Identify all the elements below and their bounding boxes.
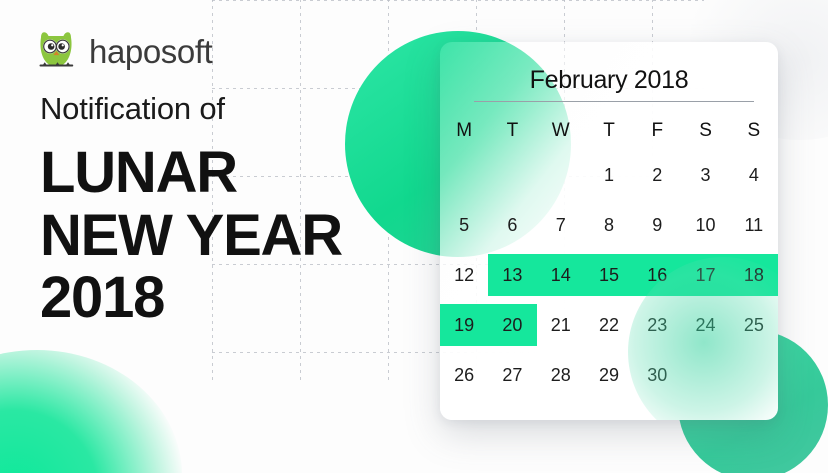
calendar-divider: [474, 101, 754, 102]
headline-kicker: Notification of: [40, 92, 342, 126]
calendar-day-cell[interactable]: 7: [537, 216, 585, 234]
calendar-day-cell[interactable]: 8: [585, 216, 633, 234]
calendar-day-cell[interactable]: 21: [537, 316, 585, 334]
calendar-day-cell-highlighted[interactable]: 20: [488, 316, 536, 334]
decorative-green-glow-bottom-left: [0, 350, 182, 473]
calendar-day-cell[interactable]: 28: [537, 366, 585, 384]
weekday-label: T: [488, 121, 536, 140]
headline-line-3: 2018: [40, 267, 342, 330]
calendar-day-cell[interactable]: 29: [585, 366, 633, 384]
calendar-day-cell[interactable]: 23: [633, 316, 681, 334]
weekday-label: M: [440, 121, 488, 140]
calendar-day-cell-highlighted[interactable]: 15: [585, 266, 633, 284]
calendar-day-cell[interactable]: 11: [730, 216, 778, 234]
calendar-card: February 2018 M T W T F S S 1 2: [440, 42, 778, 420]
calendar-weekday-row: M T W T F S S: [440, 110, 778, 150]
calendar-day-cell[interactable]: 6: [488, 216, 536, 234]
calendar-week-row: 1 2 3 4: [440, 150, 778, 200]
poster-canvas: haposoft Notification of LUNAR NEW YEAR …: [0, 0, 828, 473]
calendar-day-cell[interactable]: 24: [681, 316, 729, 334]
calendar-week-row: 5 6 7 8 9 10 11: [440, 200, 778, 250]
calendar-day-cell-highlighted[interactable]: 18: [730, 266, 778, 284]
calendar-title: February 2018: [440, 66, 778, 95]
calendar-day-cell[interactable]: 2: [633, 166, 681, 184]
brand-logo: haposoft: [32, 27, 212, 75]
brand-name: haposoft: [89, 35, 212, 68]
calendar-day-cell[interactable]: 5: [440, 216, 488, 234]
calendar-day-cell[interactable]: 26: [440, 366, 488, 384]
calendar-day-cell[interactable]: 1: [585, 166, 633, 184]
weekday-label: F: [633, 121, 681, 140]
calendar-grid: M T W T F S S 1 2 3 4: [440, 110, 778, 400]
calendar-week-row: 26 27 28 29 30: [440, 350, 778, 400]
headline-block: Notification of LUNAR NEW YEAR 2018: [40, 92, 342, 330]
calendar-day-cell[interactable]: 22: [585, 316, 633, 334]
headline-line-1: LUNAR: [40, 142, 342, 205]
calendar-day-cell-highlighted[interactable]: 17: [681, 266, 729, 284]
owl-logo-icon: [32, 27, 80, 75]
headline-line-2: NEW YEAR: [40, 205, 342, 268]
calendar-day-cell-highlighted[interactable]: 13: [488, 266, 536, 284]
calendar-week-row: 12 13 14 15 16 17 18: [440, 250, 778, 300]
calendar-day-cell[interactable]: 25: [730, 316, 778, 334]
calendar-week-row: 19 20 21 22 23 24 25: [440, 300, 778, 350]
calendar-day-cell-highlighted[interactable]: 19: [440, 316, 488, 334]
calendar-day-cell[interactable]: 12: [440, 266, 488, 284]
calendar-day-cell[interactable]: 9: [633, 216, 681, 234]
calendar-day-cell-highlighted[interactable]: 16: [633, 266, 681, 284]
calendar-day-cell[interactable]: 30: [633, 366, 681, 384]
calendar-day-cell[interactable]: 10: [681, 216, 729, 234]
weekday-label: S: [730, 121, 778, 140]
calendar-day-cell[interactable]: 4: [730, 166, 778, 184]
weekday-label: T: [585, 121, 633, 140]
calendar-day-cell[interactable]: 3: [681, 166, 729, 184]
weekday-label: S: [681, 121, 729, 140]
calendar-day-cell[interactable]: 27: [488, 366, 536, 384]
calendar-day-cell-highlighted[interactable]: 14: [537, 266, 585, 284]
weekday-label: W: [537, 121, 585, 140]
